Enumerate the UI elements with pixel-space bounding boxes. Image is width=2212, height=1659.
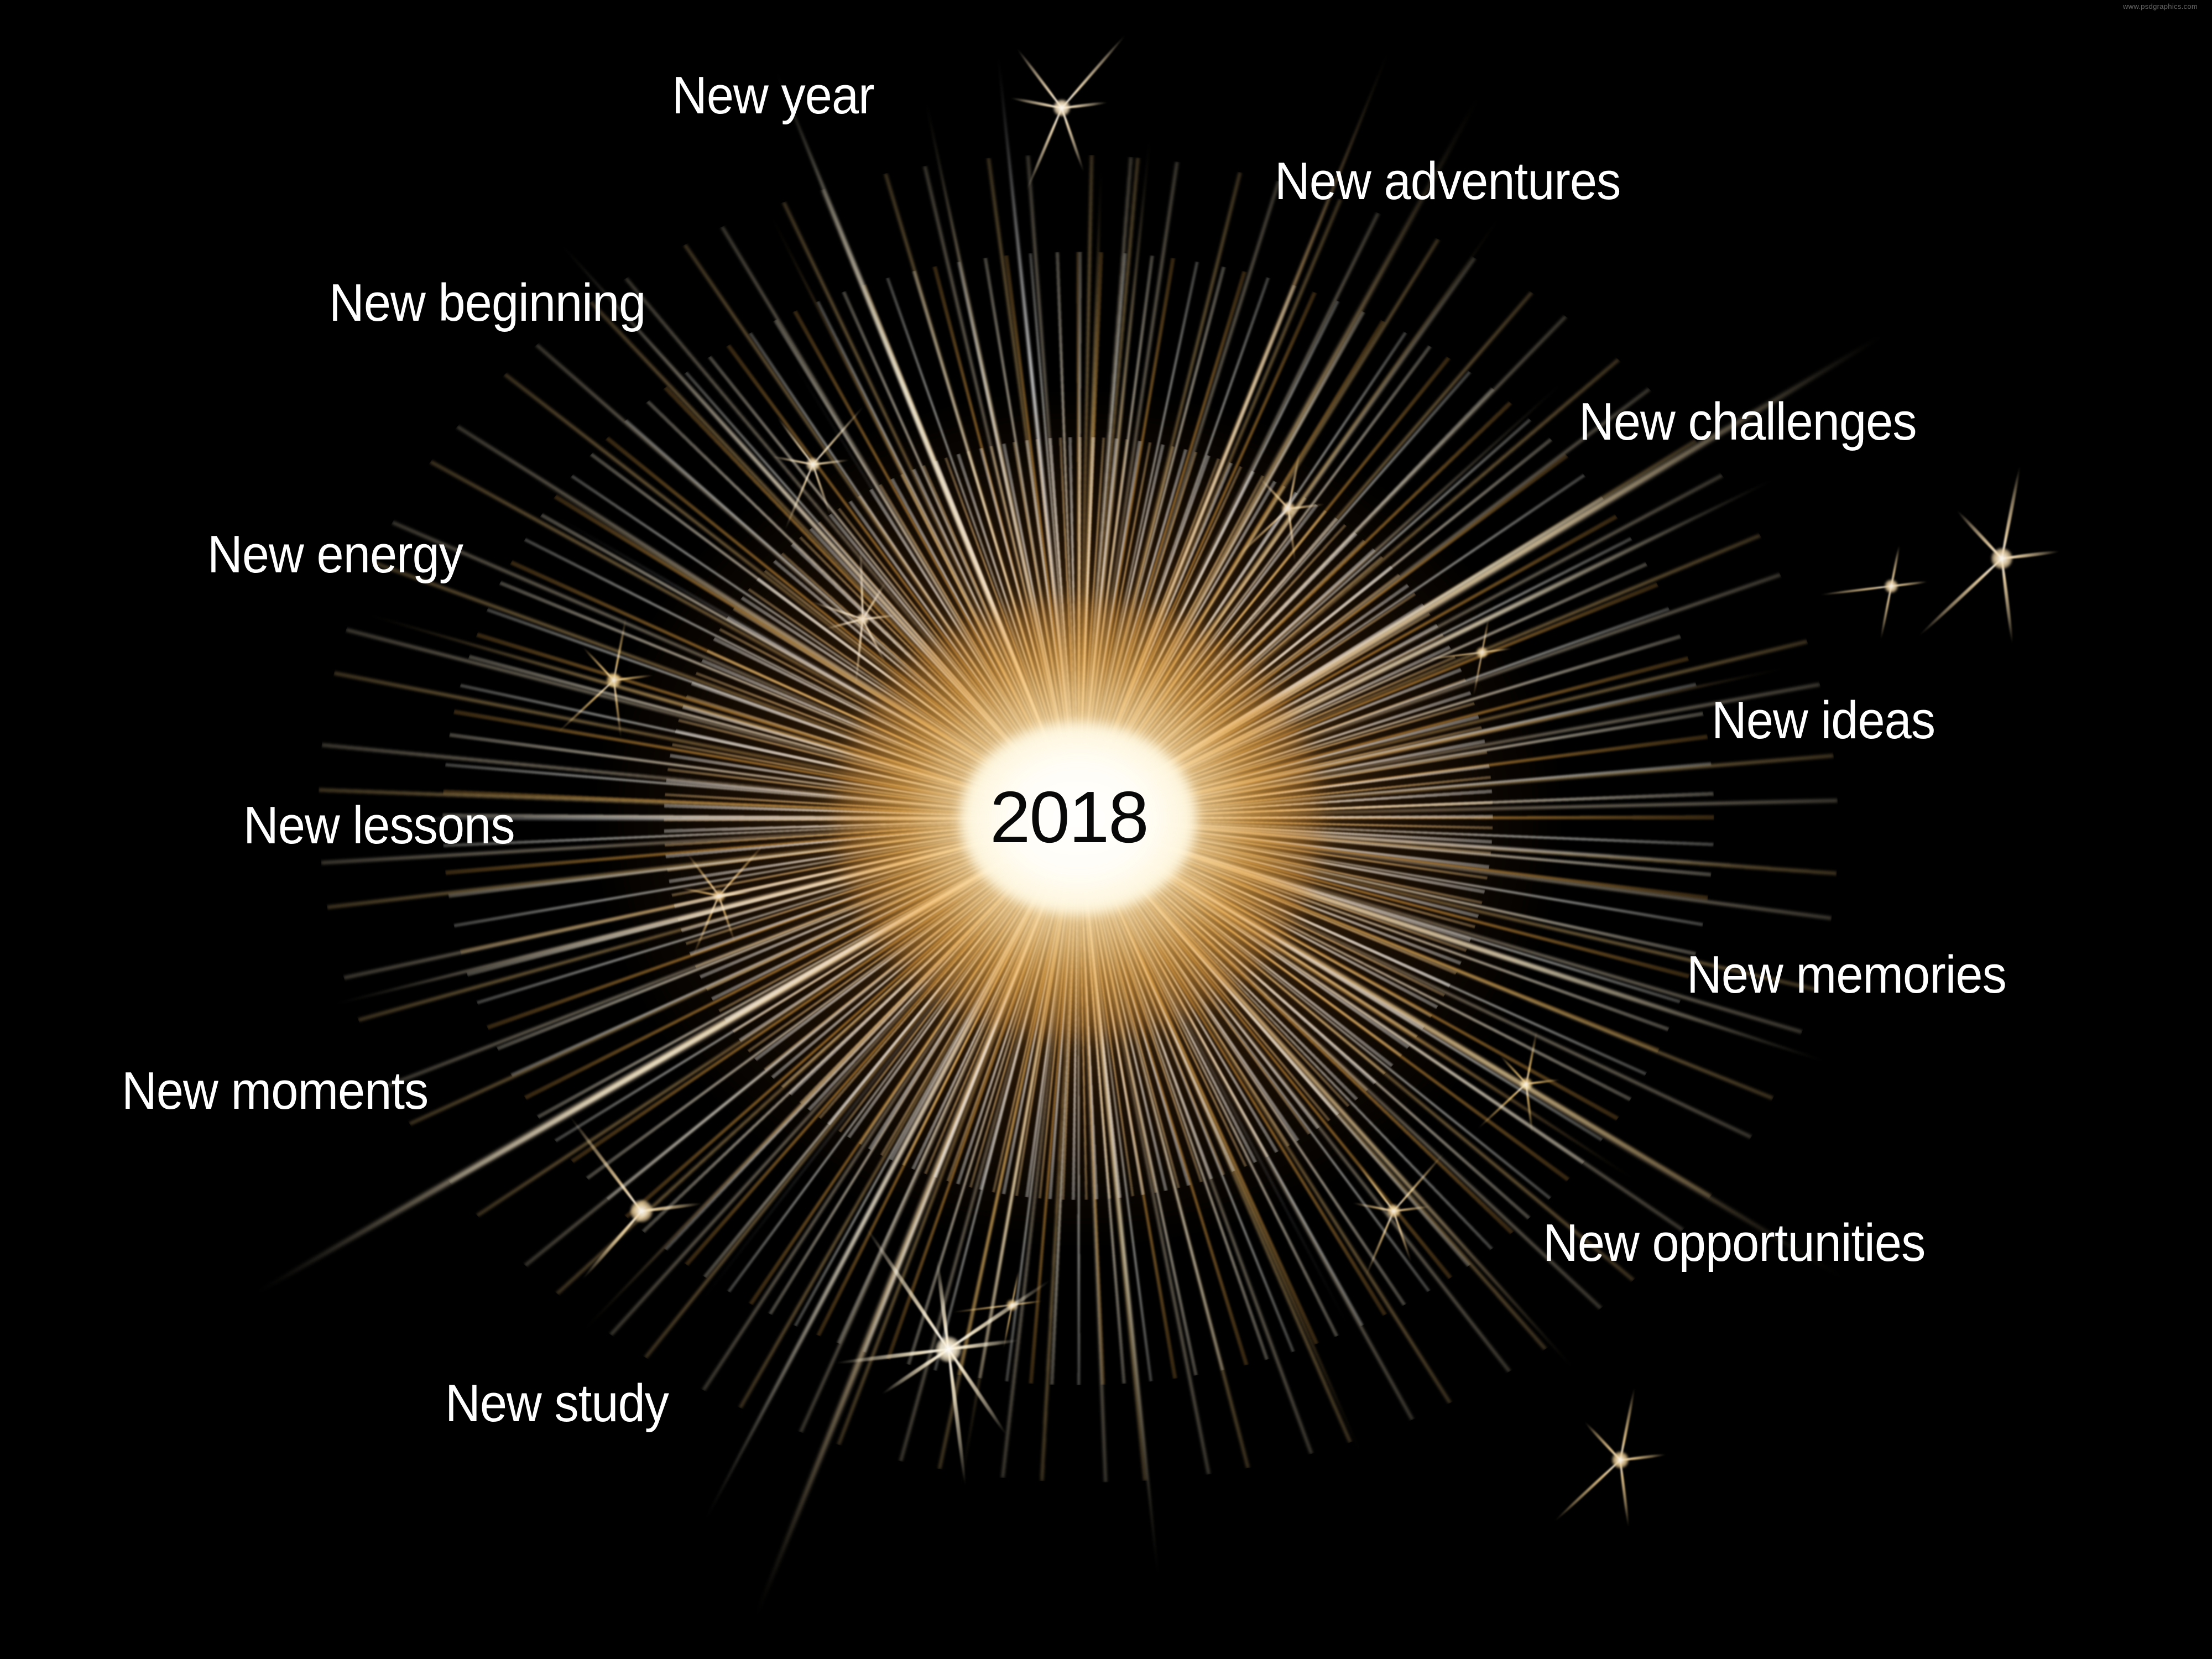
spark-flare-core [1612, 1452, 1629, 1468]
spark-flare-arm [718, 895, 735, 943]
spark-flare-arm [859, 549, 864, 619]
spark-flare-arm [772, 456, 813, 466]
spark-flare-arm [863, 614, 896, 620]
spark-flare-arm [685, 852, 719, 897]
spark-flare-arm [1392, 1211, 1412, 1262]
spark-flare-arm [1918, 557, 2003, 637]
spark-flare-arm [784, 464, 814, 531]
spark-streak [959, 818, 1080, 1489]
spark-flare-arm [719, 891, 752, 897]
spark-flare-arm [936, 1260, 951, 1349]
spark-flare-arm [1526, 1079, 1559, 1085]
spark-flare-arm [812, 464, 831, 516]
spark-flare-arm [1554, 1459, 1621, 1522]
spark-flare-arm [1357, 1163, 1395, 1212]
label-new-energy: New energy [207, 528, 463, 581]
spark-flare-arm [2002, 550, 2059, 560]
spark-flare-arm [1003, 1305, 1013, 1350]
spark-streak [774, 69, 1081, 820]
spark-streak [1078, 818, 1352, 1332]
spark-flare-arm [2000, 559, 2014, 644]
spark-flare-arm [776, 416, 814, 465]
spark-streak [582, 817, 1079, 1333]
spark-flare-arm [613, 680, 622, 739]
spark-flare-arm [1011, 1271, 1019, 1305]
spark-flare-arm [1026, 107, 1063, 191]
spark-flare-arm [1890, 545, 1900, 587]
spark-flare-arm [947, 1279, 1052, 1351]
spark-flare-core [857, 613, 869, 625]
label-new-year: New year [672, 69, 874, 122]
spark-flare-arm [556, 679, 614, 734]
label-new-ideas: New ideas [1712, 694, 1935, 747]
label-new-challenges: New challenges [1579, 395, 1917, 448]
spark-streak [1078, 817, 1768, 868]
spark-flare-arm [1619, 1387, 1636, 1460]
spark-flare-arm [1423, 651, 1482, 660]
spark-flare-arm [862, 619, 886, 664]
spark-streak [1077, 166, 1103, 818]
spark-flare-core [1991, 548, 2012, 569]
spark-flare-core [1885, 580, 1898, 593]
spark-streak [1077, 477, 1775, 821]
spark-flare-arm [568, 1115, 643, 1212]
spark-streak [1078, 816, 1826, 1063]
spark-streak [696, 818, 1079, 1307]
spark-flare-arm [1062, 101, 1107, 109]
spark-flare-arm [812, 406, 864, 465]
spark-streak [1078, 666, 1787, 820]
spark-streak [1077, 818, 1363, 1455]
spark-streak [1078, 381, 1564, 820]
spark-flare-core [1282, 502, 1295, 515]
spark-flare-arm [1820, 585, 1891, 596]
spark-streak [790, 358, 1079, 819]
spark-flare-arm [948, 1339, 1018, 1352]
spark-flare-arm [1525, 1030, 1537, 1084]
label-new-adventures: New adventures [1275, 155, 1620, 208]
label-new-beginning: New beginning [329, 276, 645, 330]
spark-streak [768, 212, 1079, 819]
spark-flare-arm [581, 1210, 643, 1280]
spark-streak [524, 472, 1079, 820]
spark-streak [924, 98, 1080, 818]
spark-flare-arm [1619, 1460, 1630, 1527]
spark-flare-arm [614, 674, 653, 681]
label-new-moments: New moments [122, 1065, 428, 1118]
spark-flare-arm [1287, 450, 1301, 509]
spark-flare-arm [881, 1348, 950, 1396]
spark-flare-arm [613, 617, 627, 681]
spark-flare-arm [1393, 1152, 1445, 1212]
spark-streak [1077, 817, 1575, 1370]
spark-flare-arm [641, 1202, 702, 1213]
spark-flare-core [806, 458, 820, 471]
spark-streak [1077, 215, 1501, 819]
spark-flare-arm [1061, 107, 1085, 172]
spark-flare-arm [1365, 1211, 1395, 1277]
spark-streak [702, 817, 1080, 1522]
label-new-study: New study [445, 1377, 669, 1430]
spark-flare-arm [1473, 653, 1483, 697]
spark-flare-core [936, 1337, 961, 1362]
spark-streak [997, 54, 1080, 818]
spark-flare-arm [1394, 1206, 1430, 1212]
spark-flare-arm [582, 646, 615, 681]
sparkler-poster: New yearNew adventuresNew beginningNew c… [0, 0, 2212, 1659]
spark-flare-arm [1525, 1084, 1533, 1133]
spark-flare-arm [862, 582, 886, 620]
spark-flare-arm [1482, 648, 1512, 654]
spark-streak [366, 613, 1079, 820]
spark-trail [253, 816, 1080, 1297]
spark-flare-arm [813, 459, 849, 466]
spark-flare-core [1006, 1300, 1018, 1311]
spark-flare-arm [1287, 509, 1296, 562]
spark-flare-arm [1016, 48, 1062, 109]
spark-flare-core [1520, 1078, 1532, 1090]
spark-flare-arm [1353, 1202, 1394, 1212]
label-new-lessons: New lessons [243, 799, 515, 852]
spark-flare-arm [1955, 509, 2003, 560]
spark-flare-arm [1500, 1055, 1527, 1084]
spark-flare-arm [947, 1348, 1008, 1436]
spark-flare-arm [1235, 508, 1289, 559]
spark-streak [1077, 818, 1160, 1578]
spark-streak [1077, 137, 1152, 819]
year-text: 2018 [990, 781, 1148, 854]
spark-flare-arm [946, 1349, 967, 1486]
spark-flare-core [1387, 1204, 1400, 1218]
spark-flare-core [1053, 100, 1070, 116]
spark-flare-arm [681, 888, 719, 897]
spark-flare-arm [864, 1226, 950, 1350]
spark-streak [513, 817, 1079, 1146]
spark-flare-arm [855, 619, 864, 685]
watermark: www.psdgraphics.com [2123, 2, 2198, 11]
spark-streak [1077, 817, 1636, 1181]
spark-flare-core [607, 673, 621, 687]
spark-flare-arm [1481, 618, 1489, 653]
spark-flare-arm [1012, 1301, 1042, 1306]
spark-flare-arm [811, 601, 863, 620]
spark-flare-arm [1880, 586, 1892, 640]
spark-flare-arm [1259, 478, 1289, 510]
spark-flare-arm [2000, 466, 2021, 559]
spark-flare-arm [1061, 34, 1125, 108]
spark-streak [551, 513, 1079, 819]
spark-flare-core [713, 890, 725, 902]
spark-flare-arm [692, 895, 720, 957]
spark-trail [753, 817, 1081, 1619]
spark-trail [1077, 817, 1848, 1282]
spark-flare-core [1477, 647, 1488, 658]
spark-flare-arm [826, 618, 863, 630]
label-new-memories: New memories [1687, 948, 2006, 1001]
spark-flare-arm [1288, 503, 1325, 510]
spark-flare-arm [1891, 581, 1928, 587]
spark-flare-arm [953, 1304, 1012, 1313]
spark-flare-core [630, 1200, 653, 1222]
spark-flare-arm [836, 1347, 949, 1365]
spark-flare-arm [1620, 1453, 1666, 1462]
spark-flare-arm [718, 842, 766, 896]
spark-flare-arm [1010, 97, 1062, 109]
label-new-opportunities: New opportunities [1543, 1217, 1925, 1270]
spark-flare-arm [1584, 1421, 1621, 1460]
spark-flare-arm [1478, 1083, 1527, 1129]
